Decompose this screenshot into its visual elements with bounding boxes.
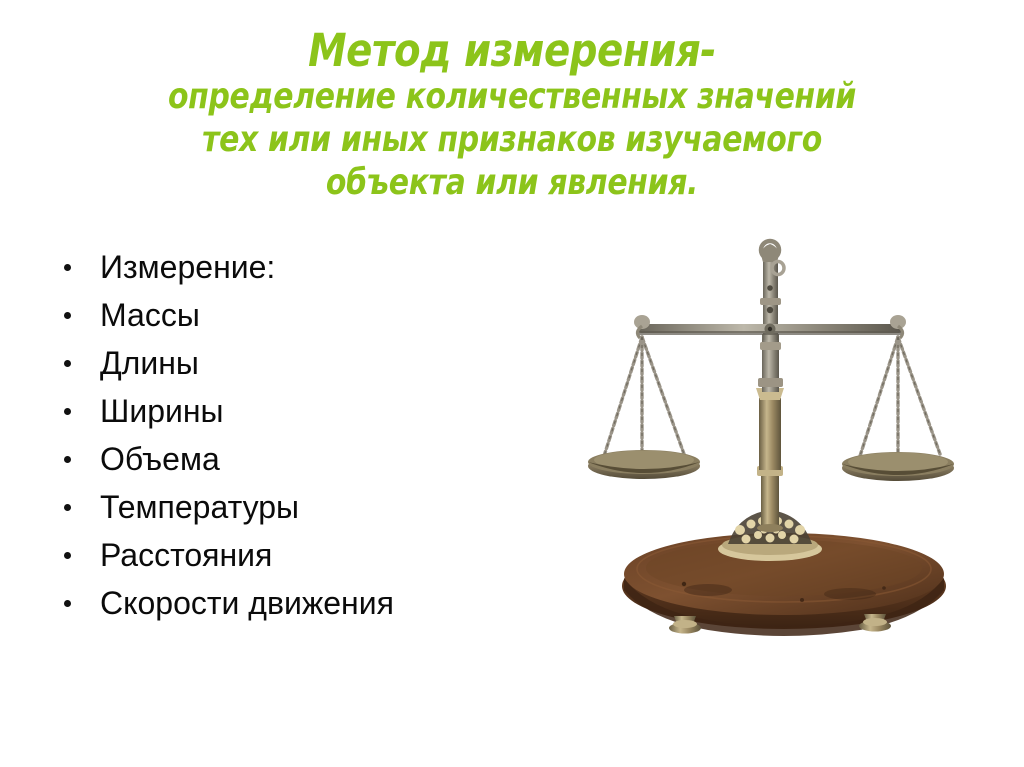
bullet-dot-icon (64, 360, 71, 367)
list-item: Массы (58, 291, 528, 339)
list-item-label: Длины (100, 345, 199, 381)
bullet-dot-icon (64, 408, 71, 415)
bullet-dot-icon (64, 504, 71, 511)
list-item-label: Ширины (100, 393, 224, 429)
bullet-dot-icon (64, 456, 71, 463)
list-item-label: Температуры (100, 489, 299, 525)
slide-title: Метод измерения- определение количествен… (60, 28, 964, 208)
bullet-dot-icon (64, 552, 71, 559)
list-item-label: Скорости движения (100, 585, 394, 621)
right-pan-assembly (842, 337, 954, 481)
list-item-label: Массы (100, 297, 200, 333)
list-item: Скорости движения (58, 579, 528, 627)
list-item: Длины (58, 339, 528, 387)
left-pan-assembly (588, 337, 700, 479)
bullet-dot-icon (64, 264, 71, 271)
bullet-dot-icon (64, 312, 71, 319)
list-item: Объема (58, 435, 528, 483)
title-line-2: определение количественных значений (137, 79, 887, 115)
list-item: Измерение: (58, 243, 528, 291)
title-line-3: тех или иных признаков изучаемого (137, 122, 887, 158)
title-line-1: Метод измерения- (123, 28, 900, 73)
title-line-4: объекта или явления. (137, 165, 887, 201)
list-item: Расстояния (58, 531, 528, 579)
center-column (756, 334, 784, 532)
list-item-label: Расстояния (100, 537, 272, 573)
measurement-bullet-list: Измерение: Массы Длины Ширины Объема Тем… (58, 243, 528, 627)
list-item: Ширины (58, 387, 528, 435)
list-item-label: Измерение: (100, 249, 275, 285)
list-item: Температуры (58, 483, 528, 531)
list-item-label: Объема (100, 441, 220, 477)
bullet-dot-icon (64, 600, 71, 607)
slide: Метод измерения- определение количествен… (0, 0, 1024, 767)
balance-scale-image (588, 238, 980, 638)
